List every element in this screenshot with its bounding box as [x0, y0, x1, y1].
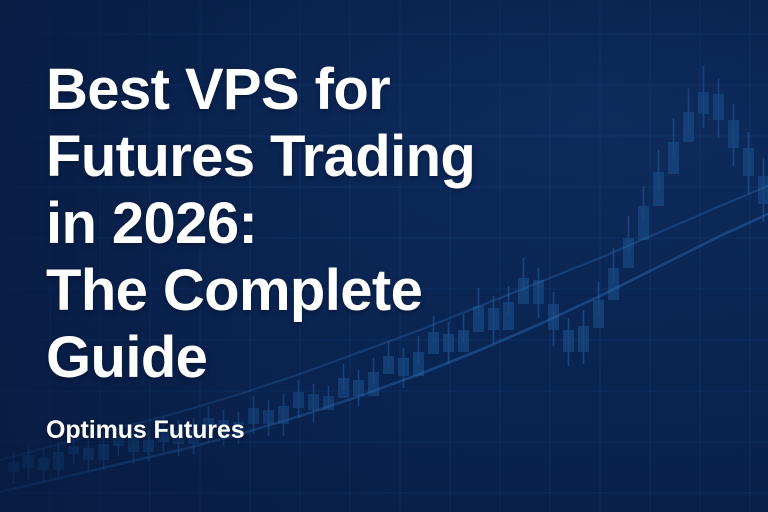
page-title: Best VPS forFutures Tradingin 2026:The C… [46, 56, 516, 391]
page-title-line-4: The Complete [46, 257, 516, 324]
byline-label: Optimus Futures [46, 416, 245, 445]
blog-header-card: Best VPS forFutures Tradingin 2026:The C… [0, 0, 768, 512]
text-content: Best VPS forFutures Tradingin 2026:The C… [0, 0, 768, 512]
page-title-line-2: Futures Trading [46, 123, 516, 190]
page-title-line-1: Best VPS for [46, 56, 516, 123]
page-title-line-3: in 2026: [46, 190, 516, 257]
page-title-line-5: Guide [46, 324, 516, 391]
